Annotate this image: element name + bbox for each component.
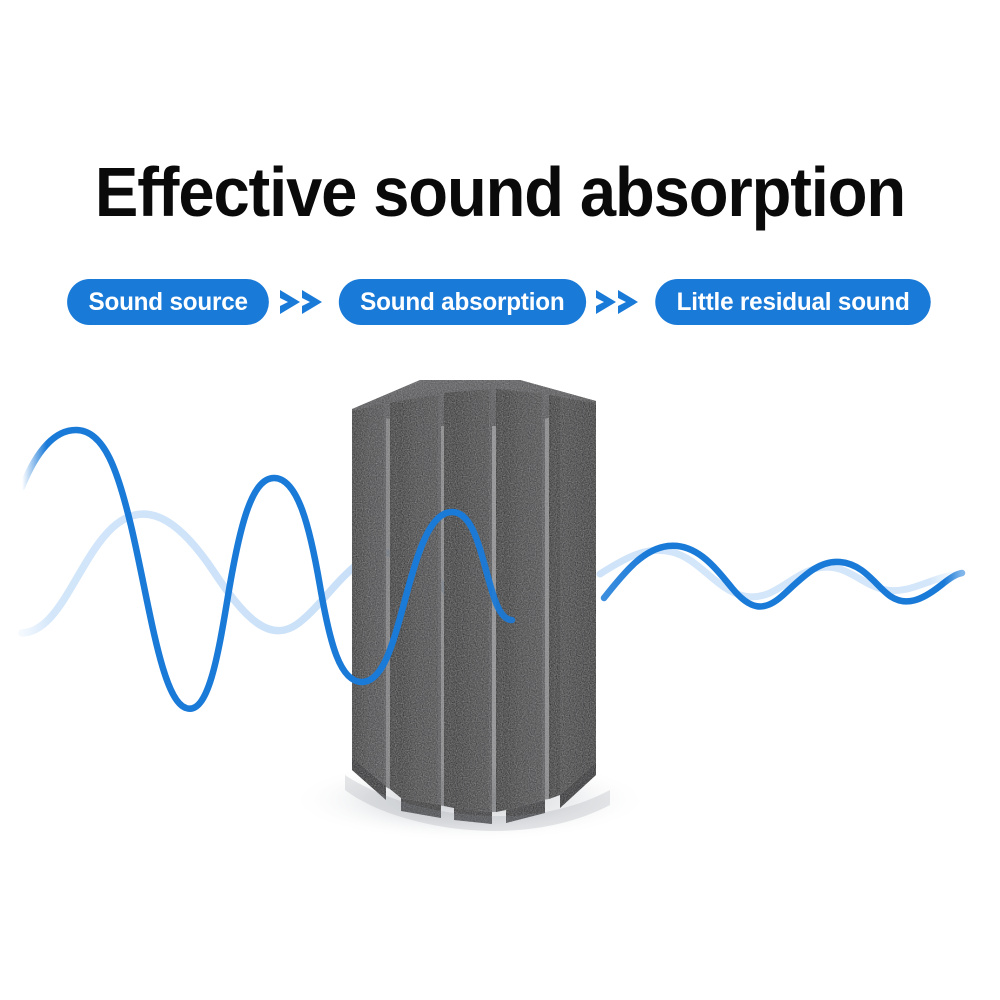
- badge-little-residual-sound[interactable]: Little residual sound: [656, 279, 932, 325]
- wave-primary-right-path: [604, 546, 962, 607]
- foam-top-back-ridge: [420, 380, 596, 401]
- foam-fin-2: [401, 394, 441, 805]
- foam-foot-3: [454, 808, 492, 824]
- foam-fin-1: [352, 404, 386, 786]
- double-chevron-right-icon-2: [589, 279, 651, 325]
- foam-contact-shadow: [345, 775, 610, 831]
- foam-foot-1: [352, 757, 386, 800]
- poster-root: Effective sound absorption Sound source …: [0, 0, 1000, 1000]
- foam-fin-2-edge: [438, 393, 444, 806]
- sound-wave-secondary: [0, 0, 1000, 1000]
- page-title: Effective sound absorption: [35, 152, 965, 232]
- foam-fin-5: [560, 397, 596, 795]
- foam-groove-1: [390, 401, 401, 798]
- foam-fin-4: [506, 390, 545, 810]
- foam-groove-2: [444, 392, 454, 808]
- foam-fin-1-edge: [384, 403, 390, 789]
- foam-groove-4: [549, 395, 560, 799]
- wave-secondary-right-path: [600, 550, 958, 597]
- acoustic-foam-product: [0, 0, 1000, 1000]
- badge-sound-source[interactable]: Sound source: [67, 279, 269, 325]
- foam-foot-2: [401, 798, 441, 818]
- badge-sound-absorption[interactable]: Sound absorption: [338, 279, 585, 325]
- foam-foot-4: [506, 800, 545, 823]
- process-flow: Sound source Sound absorption Little res…: [0, 278, 1000, 326]
- foam-top-face: [352, 380, 596, 426]
- product-ground-shadow: [290, 758, 650, 842]
- wave-primary-left-path: [22, 430, 512, 709]
- double-chevron-right-icon-1: [273, 279, 335, 325]
- sound-wave-primary: [0, 0, 1000, 1000]
- foam-fin-3-edge: [489, 389, 496, 812]
- foam-groove-3: [496, 389, 506, 812]
- foam-fin-4-edge: [542, 393, 549, 800]
- foam-fin-3: [454, 389, 492, 812]
- wave-secondary-left-path: [22, 514, 452, 633]
- foam-foot-5: [560, 762, 596, 808]
